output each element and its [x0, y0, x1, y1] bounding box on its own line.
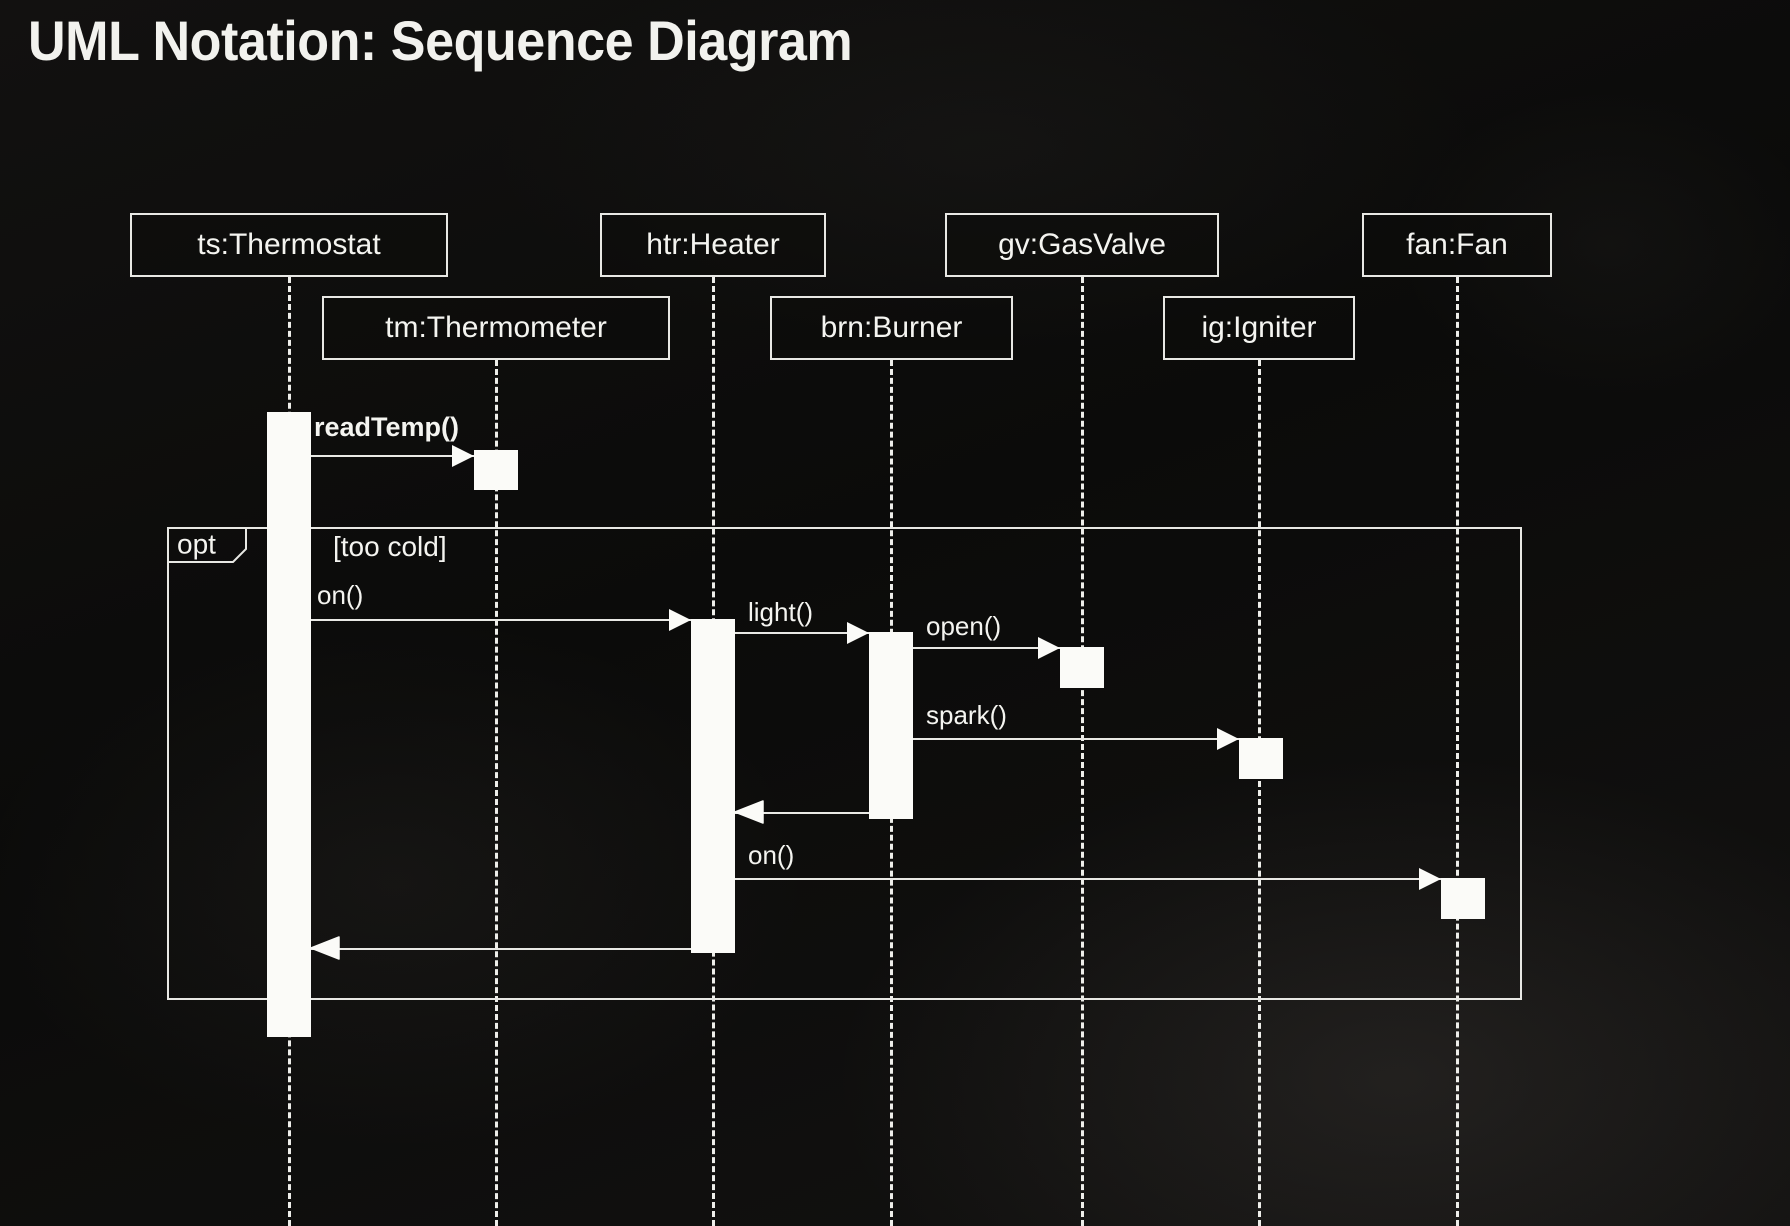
participant-label-ts: ts:Thermostat	[197, 228, 380, 262]
arrowhead-filled-m4	[1038, 637, 1060, 659]
fragment-frame-opt	[167, 527, 1522, 1000]
message-line-m8[interactable]	[311, 948, 691, 950]
message-label-m2: on()	[317, 580, 363, 611]
fragment-guard: [too cold]	[333, 531, 447, 563]
activation-bar-ts[interactable]	[267, 412, 311, 1037]
arrowhead-filled-m1	[452, 445, 474, 467]
slide-canvas: UML Notation: Sequence Diagram opt[too c…	[0, 0, 1790, 1226]
participant-label-fan: fan:Fan	[1406, 228, 1508, 262]
participant-label-tm: tm:Thermometer	[385, 311, 607, 345]
participant-box-gv[interactable]: gv:GasValve	[945, 213, 1219, 277]
participant-box-tm[interactable]: tm:Thermometer	[322, 296, 670, 360]
arrowhead-open-m6	[734, 799, 764, 825]
activation-bar-tm[interactable]	[474, 450, 518, 490]
participant-box-ig[interactable]: ig:Igniter	[1163, 296, 1355, 360]
participant-label-htr: htr:Heater	[646, 228, 779, 262]
fragment-operator-label: opt	[177, 528, 216, 560]
message-line-m1[interactable]	[311, 455, 474, 457]
message-label-m1: readTemp()	[314, 412, 459, 443]
participant-box-brn[interactable]: brn:Burner	[770, 296, 1013, 360]
participant-box-fan[interactable]: fan:Fan	[1362, 213, 1552, 277]
activation-bar-gv[interactable]	[1060, 647, 1104, 688]
arrowhead-filled-m3	[847, 622, 869, 644]
message-label-m7: on()	[748, 840, 794, 871]
activation-bar-htr[interactable]	[691, 619, 735, 953]
activation-bar-brn[interactable]	[869, 632, 913, 819]
page-title: UML Notation: Sequence Diagram	[28, 8, 852, 73]
arrowhead-filled-m2	[669, 609, 691, 631]
fragment-operator-tab: opt	[167, 527, 247, 563]
participant-label-ig: ig:Igniter	[1201, 311, 1316, 345]
participant-box-htr[interactable]: htr:Heater	[600, 213, 826, 277]
participant-label-brn: brn:Burner	[821, 311, 963, 345]
participant-box-ts[interactable]: ts:Thermostat	[130, 213, 448, 277]
message-line-m2[interactable]	[311, 619, 691, 621]
arrowhead-open-m8	[310, 935, 340, 961]
arrowhead-filled-m7	[1419, 868, 1441, 890]
activation-bar-fan[interactable]	[1441, 878, 1485, 919]
message-line-m5[interactable]	[913, 738, 1239, 740]
message-label-m5: spark()	[926, 700, 1007, 731]
message-label-m3: light()	[748, 597, 813, 628]
participant-label-gv: gv:GasValve	[998, 228, 1166, 262]
arrowhead-filled-m5	[1217, 728, 1239, 750]
message-label-m4: open()	[926, 611, 1001, 642]
message-line-m7[interactable]	[735, 878, 1441, 880]
activation-bar-ig[interactable]	[1239, 738, 1283, 779]
